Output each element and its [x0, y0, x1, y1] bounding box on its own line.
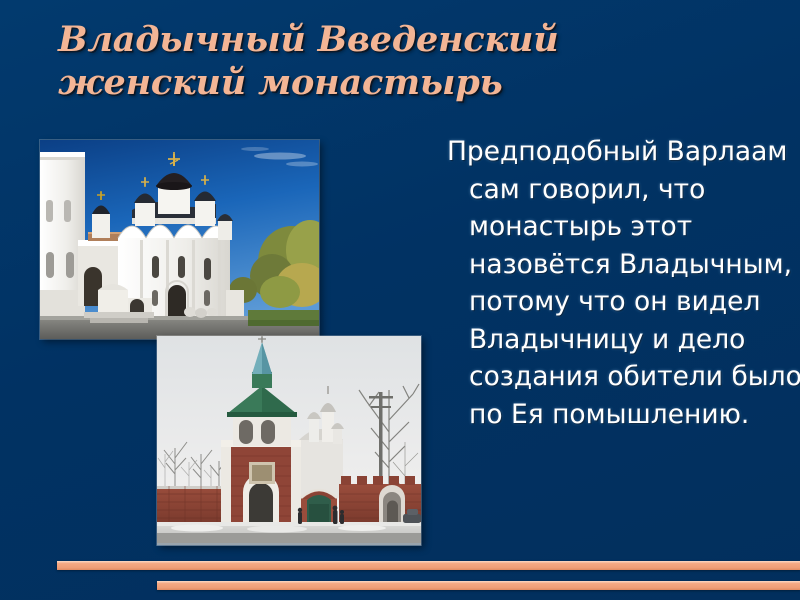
gate-illustration — [157, 336, 421, 545]
cathedral-photo — [40, 140, 319, 339]
highlight-streak — [157, 543, 421, 546]
cathedral-illustration — [40, 140, 319, 339]
page-title: Владычный Введенский женский монастырь — [58, 18, 758, 104]
decorative-rule-lower — [157, 581, 800, 590]
gate-photo — [157, 336, 421, 545]
decorative-rule-upper — [57, 561, 800, 570]
slide-canvas: Владычный Введенский женский монастырь — [0, 0, 800, 600]
body-paragraph: Предподобный Варлаам сам говорил, что мо… — [447, 133, 800, 433]
